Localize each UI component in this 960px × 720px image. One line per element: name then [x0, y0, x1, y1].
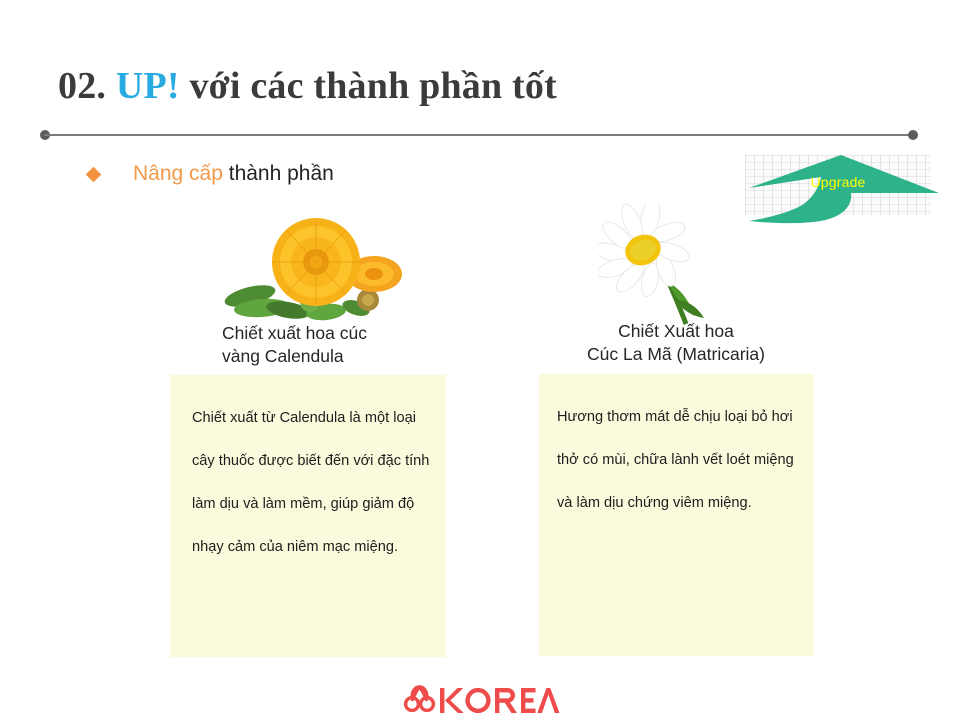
subheading-rest: thành phần — [223, 162, 334, 185]
divider-line — [44, 134, 914, 136]
subheading: Nâng cấp thành phần — [88, 162, 334, 186]
title-divider — [40, 130, 918, 140]
calendula-flower-image — [218, 214, 422, 326]
slide-canvas: 02. UP! với các thành phần tốt Nâng cấp … — [0, 0, 960, 720]
caption-line-1: Chiết xuất hoa cúc — [222, 322, 442, 345]
diamond-bullet-icon — [86, 166, 102, 182]
upgrade-arrow-icon — [743, 145, 943, 227]
title-highlight: UP! — [116, 65, 180, 107]
subheading-highlight: Nâng cấp — [133, 162, 223, 185]
caption-line-2: vàng Calendula — [222, 345, 442, 368]
ingredient-caption-chamomile: Chiết Xuất hoa Cúc La Mã (Matricaria) — [556, 320, 796, 366]
upgrade-badge: Upgrade — [745, 155, 931, 215]
divider-dot-right — [908, 130, 918, 140]
ingredient-description-chamomile: Hương thơm mát dễ chịu loại bỏ hơi thở c… — [539, 374, 814, 656]
footer-logo — [0, 682, 960, 714]
title-number: 02. — [58, 65, 106, 107]
page-title: 02. UP! với các thành phần tốt — [58, 64, 557, 108]
chamomile-daisy-image — [598, 204, 716, 326]
ingredient-caption-calendula: Chiết xuất hoa cúc vàng Calendula — [222, 322, 442, 368]
ingredient-description-calendula: Chiết xuất từ Calendula là một loại cây … — [170, 375, 446, 657]
subheading-text: Nâng cấp thành phần — [133, 162, 334, 186]
88korea-logo-icon — [400, 682, 560, 714]
caption-line-1: Chiết Xuất hoa — [556, 320, 796, 343]
caption-line-2: Cúc La Mã (Matricaria) — [556, 343, 796, 366]
title-rest: với các thành phần tốt — [189, 65, 557, 107]
